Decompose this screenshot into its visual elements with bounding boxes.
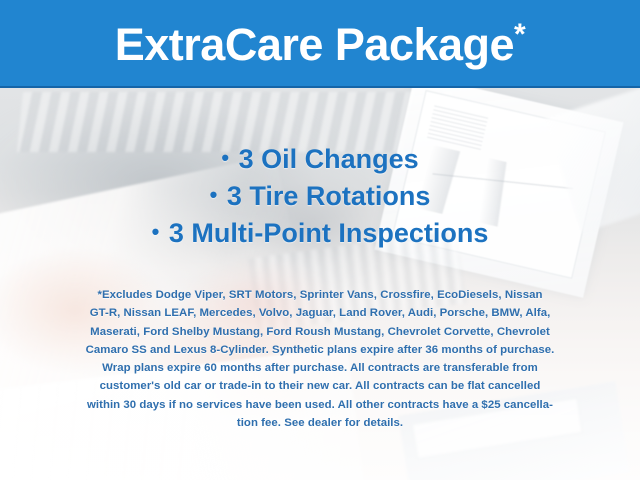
disclaimer-line: Camaro SS and Lexus 8-Cylinder. Syntheti… [28,341,612,359]
list-item-label: 3 Oil Changes [239,144,419,174]
disclaimer-line: tion fee. See dealer for details. [28,414,612,432]
list-item: • 3 Multi-Point Inspections [0,214,640,251]
disclaimer-text: *Excludes Dodge Viper, SRT Motors, Sprin… [28,286,612,432]
disclaimer-line: Maserati, Ford Shelby Mustang, Ford Rous… [28,323,612,341]
bullet-dot-icon: • [210,182,220,207]
list-item-label: 3 Tire Rotations [227,181,431,211]
header-banner: ExtraCare Package* [0,0,640,88]
list-item: • 3 Tire Rotations [0,177,640,214]
disclaimer-line: within 30 days if no services have been … [28,396,612,414]
list-item-label: 3 Multi-Point Inspections [169,218,489,248]
disclaimer-line: customer's old car or trade-in to their … [28,377,612,395]
bullet-dot-icon: • [152,219,162,244]
page-title-text: ExtraCare Package [115,19,514,70]
disclaimer-line: *Excludes Dodge Viper, SRT Motors, Sprin… [28,286,612,304]
extracare-package-ad: ExtraCare Package* • 3 Oil Changes • 3 T… [0,0,640,480]
list-item: • 3 Oil Changes [0,140,640,177]
disclaimer-line: Wrap plans expire 60 months after purcha… [28,359,612,377]
disclaimer-line: GT-R, Nissan LEAF, Mercedes, Volvo, Jagu… [28,304,612,322]
included-services-list: • 3 Oil Changes • 3 Tire Rotations • 3 M… [0,140,640,251]
bullet-dot-icon: • [221,145,231,170]
page-title: ExtraCare Package* [115,20,525,67]
title-asterisk: * [514,18,525,51]
